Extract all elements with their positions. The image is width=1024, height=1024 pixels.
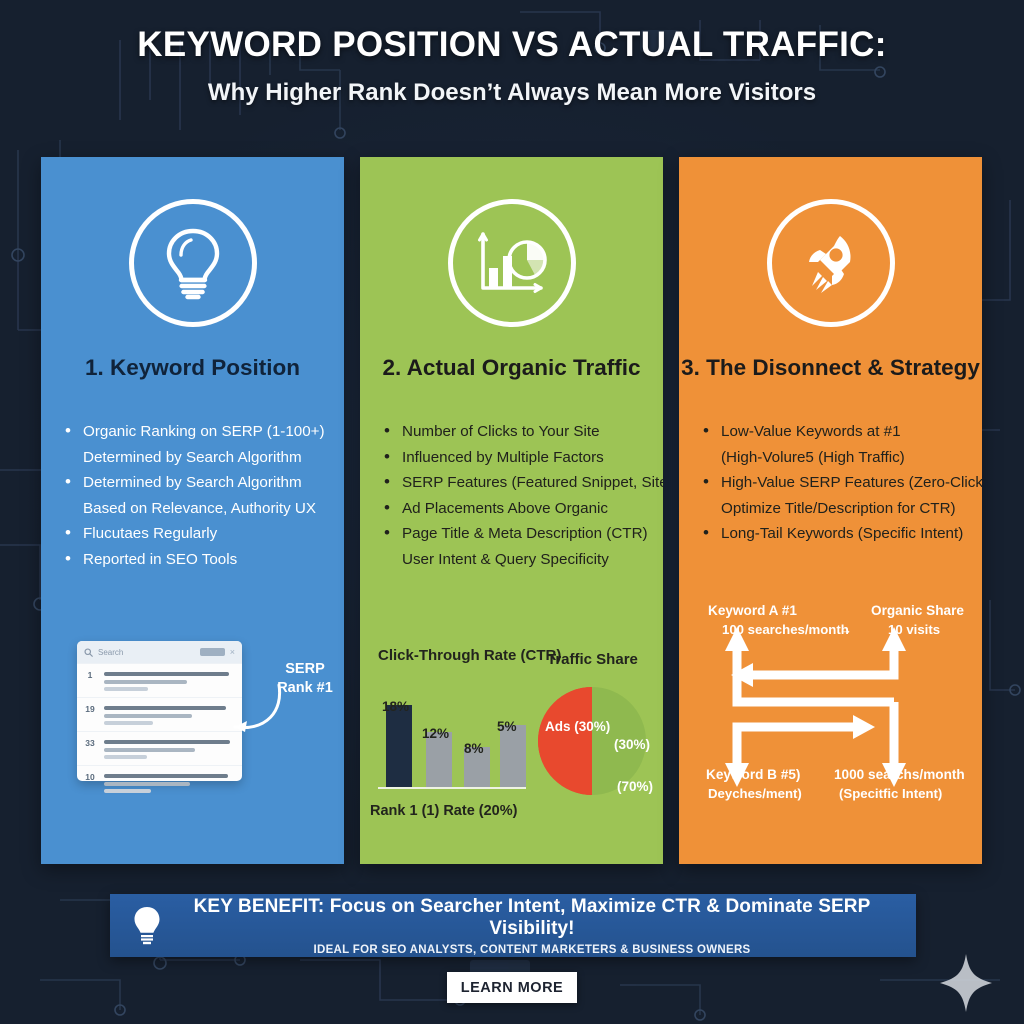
serp-rank: 19 [83, 704, 97, 725]
card-bullet-list: Low-Value Keywords at #1 (High-Volure5 (… [701, 419, 979, 547]
bar-value-label: 8% [464, 741, 484, 756]
list-item: SERP Features (Featured Snippet, Site) [382, 470, 660, 496]
flow-searches-sub: (Specitfic Intent) [839, 784, 942, 803]
table-row: 10 [77, 765, 242, 799]
flow-keyword-a-sub: 100 searches/month [722, 620, 849, 639]
lightbulb-icon [110, 906, 184, 946]
card-disconnect-strategy: 3. The Disonnect & Strategy Low-Value Ke… [679, 157, 982, 864]
page-header: KEYWORD POSITION VS ACTUAL TRAFFIC: Why … [0, 26, 1024, 107]
search-input[interactable]: Search [98, 648, 123, 657]
page-subtitle: Why Higher Rank Doesn’t Always Mean More… [0, 79, 1024, 107]
window-controls[interactable] [200, 648, 225, 656]
serp-rank: 10 [83, 772, 97, 793]
bar-rank-4 [500, 725, 526, 787]
list-item: Determined by Search Algorithm [63, 470, 341, 496]
flow-organic-share-title: Organic Share [871, 601, 964, 620]
close-icon[interactable]: × [230, 648, 235, 657]
card-title: 1. Keyword Position [41, 355, 344, 381]
list-item: User Intent & Query Specificity [382, 547, 660, 573]
bar-pie-chart-icon [448, 199, 576, 327]
serp-callout-label: SERP Rank #1 [269, 660, 341, 698]
flow-keyword-b-sub: Deyches/ment) [708, 784, 802, 803]
flow-mid-arrow-glyph: → [839, 620, 852, 639]
key-benefit-banner: KEY BENEFIT: Focus on Searcher Intent, M… [110, 894, 916, 957]
traffic-share-title: Traffic Share [547, 651, 638, 668]
chart-baseline [378, 787, 526, 789]
list-item: Reported in SEO Tools [63, 547, 341, 573]
list-item: Page Title & Meta Description (CTR) [382, 521, 660, 547]
list-item: Influenced by Multiple Factors [382, 445, 660, 471]
bar-value-label: 18% [382, 699, 409, 714]
serp-rank: 1 [83, 670, 97, 691]
list-item: (High-Volure5 (High Traffic) [701, 445, 979, 471]
serp-title-bar: Search × [77, 641, 242, 663]
pie-slice-label-30: (30%) [614, 737, 650, 753]
bar-value-label: 5% [497, 719, 517, 734]
list-item: Flucutaes Regularly [63, 521, 341, 547]
card-bullet-list: Organic Ranking on SERP (1-100+) Determi… [63, 419, 341, 572]
rocket-icon [767, 199, 895, 327]
list-item: Based on Relevance, Authority UX [63, 496, 341, 522]
flow-keyword-b-title: Keyword B #5) [706, 765, 800, 784]
card-actual-organic-traffic: 2. Actual Organic Traffic Number of Clic… [360, 157, 663, 864]
card-keyword-position: 1. Keyword Position Organic Ranking on S… [41, 157, 344, 864]
card-title: 3. The Disonnect & Strategy [679, 355, 982, 381]
list-item: Determined by Search Algorithm [63, 445, 341, 471]
flow-searches-title: 1000 searchs/month [834, 765, 965, 784]
ctr-axis-label: Rank 1 (1) Rate (20%) [370, 803, 517, 819]
search-icon [84, 648, 93, 657]
bar-rank-1 [386, 705, 412, 787]
list-item: Organic Ranking on SERP (1-100+) [63, 419, 341, 445]
flow-organic-share-sub: 10 visits [888, 620, 940, 639]
banner-subline: IDEAL FOR SEO ANALYSTS, CONTENT MARKETER… [184, 944, 880, 956]
list-item: Low-Value Keywords at #1 [701, 419, 979, 445]
card-bullet-list: Number of Clicks to Your Site Influenced… [382, 419, 660, 572]
list-item: Optimize Title/Description for CTR) [701, 496, 979, 522]
card-title: 2. Actual Organic Traffic [360, 355, 663, 381]
list-item: Ad Placements Above Organic [382, 496, 660, 522]
serp-rank: 33 [83, 738, 97, 759]
ctr-chart-title: Click-Through Rate (CTR) [378, 647, 561, 664]
list-item: Number of Clicks to Your Site [382, 419, 660, 445]
list-item: High-Value SERP Features (Zero-Click) [701, 470, 979, 496]
banner-text-block: KEY BENEFIT: Focus on Searcher Intent, M… [184, 896, 916, 956]
page-title: KEYWORD POSITION VS ACTUAL TRAFFIC: [0, 26, 1024, 65]
four-point-star-icon [938, 952, 994, 1014]
list-item: Long-Tail Keywords (Specific Intent) [701, 521, 979, 547]
bar-value-label: 12% [422, 726, 449, 741]
pie-slice-label-70: (70%) [617, 779, 653, 795]
learn-more-button[interactable]: LEARN MORE [447, 972, 577, 1003]
flow-keyword-a-title: Keyword A #1 [708, 601, 797, 620]
ctr-bar-chart: 18% 12% 8% 5% [378, 691, 528, 797]
banner-headline: KEY BENEFIT: Focus on Searcher Intent, M… [184, 896, 880, 940]
lightbulb-icon [129, 199, 257, 327]
pie-slice-label-ads: Ads (30%) [545, 719, 603, 735]
